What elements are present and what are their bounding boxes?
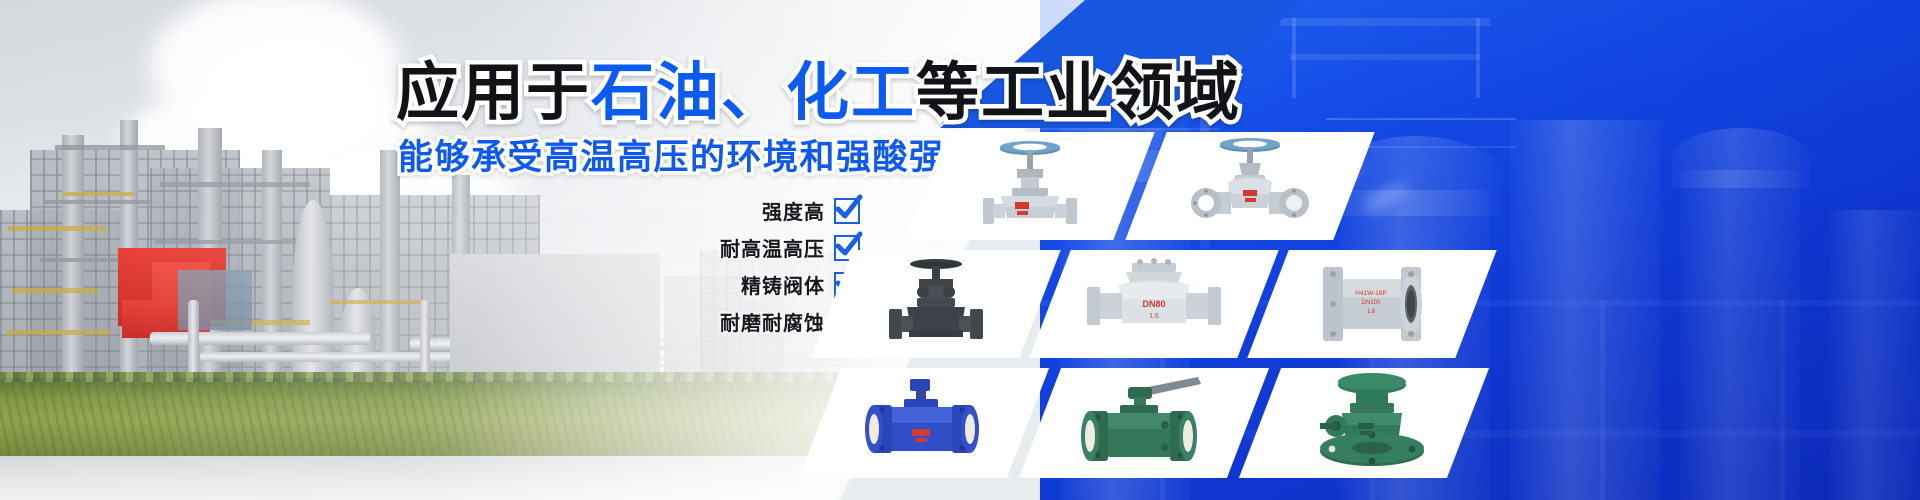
- feature-label: 耐磨耐腐蚀: [720, 307, 825, 336]
- svg-text:DN80: DN80: [1142, 299, 1165, 309]
- product-cell[interactable]: [811, 250, 1060, 358]
- headline-part-1: 应用于: [396, 58, 591, 128]
- svg-text:H41W-16P: H41W-16P: [1355, 290, 1387, 297]
- feature-label: 精铸阀体: [741, 270, 825, 299]
- lined-ball-valve-blue-icon: [844, 373, 1004, 473]
- list-item: 强度高: [762, 196, 860, 225]
- gate-valve-flanged-icon: [955, 136, 1105, 236]
- product-grid: DN80 1.6: [868, 132, 1628, 484]
- promo-banner: 应用于石油、化工等工业领域 能够承受高温高压的环境和强酸强碱介质 强度高 耐高温…: [0, 0, 1920, 500]
- swing-check-valve-icon: DN80 1.6: [1074, 257, 1234, 352]
- product-cell[interactable]: [905, 132, 1154, 240]
- product-cell[interactable]: [1239, 368, 1489, 478]
- svg-text:1.6: 1.6: [1149, 313, 1159, 320]
- wafer-check-valve-flanged-icon: H41W-16P DN100 1.6: [1297, 257, 1447, 352]
- globe-valve-flanged-icon: [1173, 136, 1328, 236]
- product-cell[interactable]: [799, 368, 1049, 478]
- product-cell[interactable]: DN80 1.6: [1029, 250, 1278, 358]
- svg-text:DN100: DN100: [1362, 300, 1381, 306]
- list-item: 耐高温高压: [720, 233, 860, 262]
- checkmark-icon: [834, 198, 860, 224]
- forged-gate-valve-black-icon: [861, 254, 1011, 354]
- feature-label: 强度高: [762, 196, 825, 225]
- lined-ball-valve-green-icon: [1062, 373, 1227, 473]
- product-cell[interactable]: [1125, 132, 1374, 240]
- headline-part-3: 等工业领域: [916, 58, 1241, 128]
- plug-valve-green-icon: [1284, 371, 1444, 476]
- feature-label: 耐高温高压: [720, 233, 825, 262]
- product-cell[interactable]: H41W-16P DN100 1.6: [1247, 250, 1496, 358]
- headline-part-2: 石油、化工: [591, 58, 916, 128]
- svg-text:1.6: 1.6: [1367, 309, 1376, 315]
- page-title: 应用于石油、化工等工业领域: [396, 62, 1241, 125]
- product-cell[interactable]: [1019, 368, 1269, 478]
